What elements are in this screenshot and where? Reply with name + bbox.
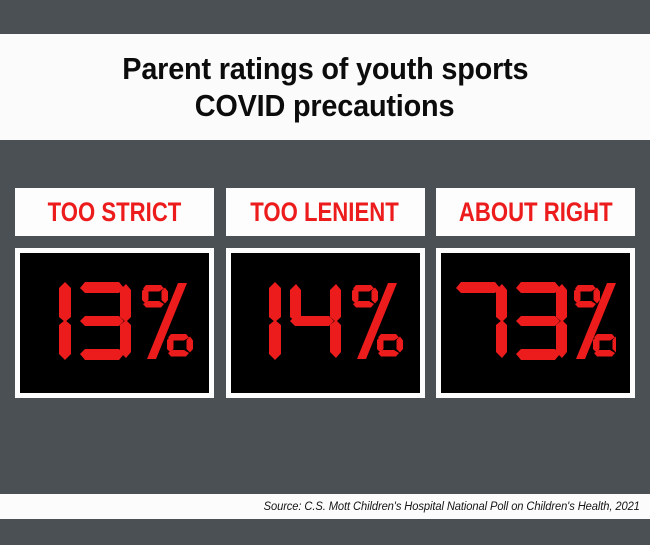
led-digits-14-percent bbox=[245, 275, 405, 371]
stat-panel-too-strict: TOO STRICT bbox=[15, 188, 214, 398]
page-title-line-1: Parent ratings of youth sports bbox=[122, 50, 528, 87]
led-display-too-strict bbox=[20, 253, 209, 393]
source-attribution: Source: C.S. Mott Children's Hospital Na… bbox=[264, 500, 640, 514]
stat-panel-group: TOO STRICT bbox=[15, 188, 635, 398]
stat-label-box-too-lenient: TOO LENIENT bbox=[226, 188, 425, 236]
stat-label-box-about-right: ABOUT RIGHT bbox=[436, 188, 635, 236]
led-digits-13-percent bbox=[35, 275, 195, 371]
title-band: Parent ratings of youth sports COVID pre… bbox=[0, 34, 650, 140]
led-display-frame-too-lenient bbox=[226, 248, 425, 398]
stat-label-too-strict: TOO STRICT bbox=[48, 198, 182, 226]
source-band: Source: C.S. Mott Children's Hospital Na… bbox=[0, 494, 650, 519]
stat-panel-too-lenient: TOO LENIENT bbox=[226, 188, 425, 398]
led-display-about-right bbox=[441, 253, 630, 393]
led-display-too-lenient bbox=[231, 253, 420, 393]
led-display-frame-about-right bbox=[436, 248, 635, 398]
stat-label-box-too-strict: TOO STRICT bbox=[15, 188, 214, 236]
stat-label-about-right: ABOUT RIGHT bbox=[459, 198, 613, 226]
stat-panel-about-right: ABOUT RIGHT bbox=[436, 188, 635, 398]
led-digits-73-percent bbox=[456, 275, 616, 371]
led-display-frame-too-strict bbox=[15, 248, 214, 398]
page-title-line-2: COVID precautions bbox=[195, 87, 455, 124]
stat-label-too-lenient: TOO LENIENT bbox=[251, 198, 399, 226]
infographic-root: Parent ratings of youth sports COVID pre… bbox=[0, 0, 650, 545]
